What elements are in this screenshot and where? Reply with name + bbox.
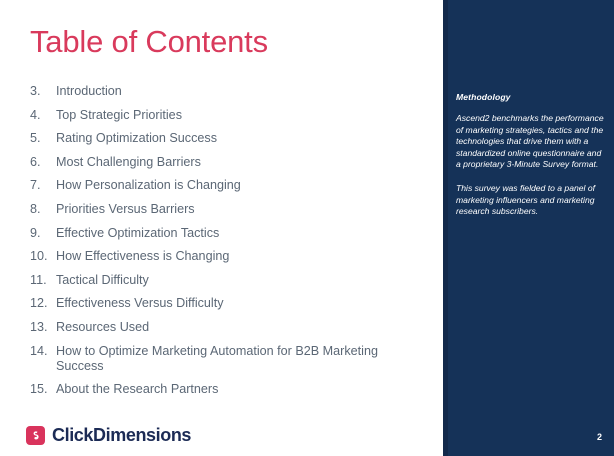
- list-item[interactable]: 9. Effective Optimization Tactics: [30, 226, 422, 241]
- list-item-label: How Personalization is Changing: [56, 178, 422, 193]
- list-item-number: 13.: [30, 320, 56, 335]
- list-item[interactable]: 10. How Effectiveness is Changing: [30, 249, 422, 264]
- list-item[interactable]: 13. Resources Used: [30, 320, 422, 335]
- list-item[interactable]: 5. Rating Optimization Success: [30, 131, 422, 146]
- page-number: 2: [597, 432, 602, 442]
- list-item[interactable]: 4. Top Strategic Priorities: [30, 108, 422, 123]
- methodology-panel: Methodology Ascend2 benchmarks the perfo…: [443, 0, 614, 456]
- list-item-label: Priorities Versus Barriers: [56, 202, 422, 217]
- list-item-label: Rating Optimization Success: [56, 131, 422, 146]
- list-item[interactable]: 6. Most Challenging Barriers: [30, 155, 422, 170]
- brand-logo: ClickDimensions: [26, 425, 191, 446]
- brand-name: ClickDimensions: [52, 425, 191, 446]
- list-item-number: 8.: [30, 202, 56, 217]
- list-item-label: Top Strategic Priorities: [56, 108, 422, 123]
- list-item[interactable]: 14. How to Optimize Marketing Automation…: [30, 344, 422, 374]
- methodology-paragraph: Ascend2 benchmarks the performance of ma…: [456, 113, 604, 171]
- list-item-number: 11.: [30, 273, 56, 288]
- panel-edge-stripe: [443, 0, 448, 456]
- list-item-label: How to Optimize Marketing Automation for…: [56, 344, 422, 374]
- list-item-label: Effectiveness Versus Difficulty: [56, 296, 422, 311]
- list-item[interactable]: 7. How Personalization is Changing: [30, 178, 422, 193]
- list-item-number: 14.: [30, 344, 56, 359]
- methodology-paragraph: This survey was fielded to a panel of ma…: [456, 183, 604, 218]
- list-item-number: 5.: [30, 131, 56, 146]
- list-item-number: 9.: [30, 226, 56, 241]
- methodology-block: Methodology Ascend2 benchmarks the perfo…: [456, 92, 604, 230]
- list-item[interactable]: 11. Tactical Difficulty: [30, 273, 422, 288]
- list-item-label: Resources Used: [56, 320, 422, 335]
- list-item-label: How Effectiveness is Changing: [56, 249, 422, 264]
- clickdimensions-logo-icon: [26, 426, 45, 445]
- list-item-label: Effective Optimization Tactics: [56, 226, 422, 241]
- list-item[interactable]: 8. Priorities Versus Barriers: [30, 202, 422, 217]
- list-item-label: Introduction: [56, 84, 422, 99]
- list-item[interactable]: 12. Effectiveness Versus Difficulty: [30, 296, 422, 311]
- list-item-label: Most Challenging Barriers: [56, 155, 422, 170]
- list-item-label: Tactical Difficulty: [56, 273, 422, 288]
- list-item-number: 4.: [30, 108, 56, 123]
- list-item[interactable]: 15. About the Research Partners: [30, 382, 422, 397]
- list-item-number: 15.: [30, 382, 56, 397]
- table-of-contents-list: 3. Introduction 4. Top Strategic Priorit…: [30, 84, 422, 406]
- list-item-number: 6.: [30, 155, 56, 170]
- slide-table-of-contents: Table of Contents 3. Introduction 4. Top…: [0, 0, 614, 456]
- list-item-number: 10.: [30, 249, 56, 264]
- list-item[interactable]: 3. Introduction: [30, 84, 422, 99]
- list-item-number: 7.: [30, 178, 56, 193]
- page-title: Table of Contents: [30, 24, 268, 60]
- list-item-label: About the Research Partners: [56, 382, 422, 397]
- list-item-number: 12.: [30, 296, 56, 311]
- methodology-heading: Methodology: [456, 92, 604, 102]
- list-item-number: 3.: [30, 84, 56, 99]
